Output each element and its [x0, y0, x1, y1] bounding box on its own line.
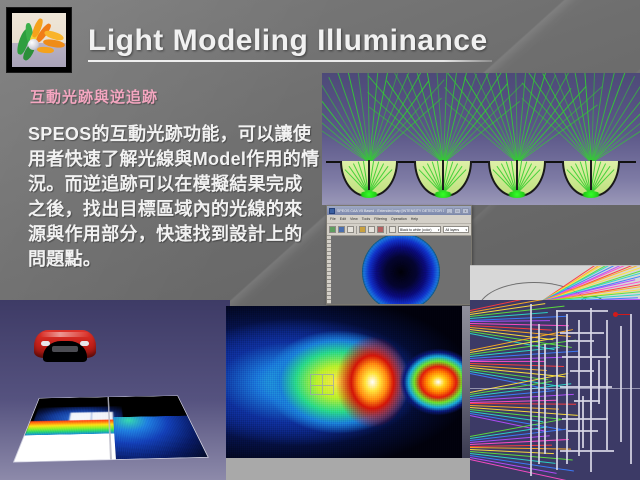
- reflector-cup: [340, 161, 398, 199]
- fit-icon[interactable]: [359, 226, 366, 233]
- color-mode-select[interactable]: Black to white (color) ▾: [398, 226, 441, 233]
- figure-beam-intensity-map: [226, 306, 470, 480]
- page-title: Light Modeling Illuminance: [88, 24, 488, 58]
- open-icon[interactable]: [329, 226, 336, 233]
- window-title-bar[interactable]: SPEOS CAA V5 Based - Extended map [INTEN…: [327, 206, 471, 215]
- grid-icon[interactable]: [377, 226, 384, 233]
- measurement-grid-overlay[interactable]: [310, 374, 334, 395]
- window-title-text: SPEOS CAA V5 Based - Extended map [INTEN…: [337, 209, 444, 213]
- figure-road-illuminance: [0, 300, 230, 480]
- presentation-logo: [6, 7, 72, 73]
- detector-canvas[interactable]: [327, 236, 471, 305]
- speos-application-window[interactable]: SPEOS CAA V5 Based - Extended map [INTEN…: [326, 205, 472, 305]
- toolbar[interactable]: Black to white (color) ▾ All layers ▾: [327, 224, 471, 236]
- layer-select[interactable]: All layers ▾: [443, 226, 469, 233]
- secondary-lobe-strip: [462, 306, 470, 458]
- vehicle-front-model: [34, 330, 96, 362]
- save-icon[interactable]: [338, 226, 345, 233]
- reflector-cup: [562, 161, 620, 199]
- target-point-leader: [618, 314, 630, 315]
- road-illuminance-plane: [13, 396, 209, 463]
- app-icon: [329, 208, 335, 214]
- menu-item-tools[interactable]: Tools: [362, 217, 370, 221]
- maximize-button[interactable]: □: [454, 208, 461, 214]
- toolbar-separator: [356, 226, 357, 234]
- chevron-down-icon[interactable]: ▾: [466, 227, 469, 233]
- logo-artwork: [12, 13, 66, 67]
- window-controls[interactable]: _ □ ×: [446, 208, 469, 214]
- menu-item-edit[interactable]: Edit: [340, 217, 346, 221]
- menu-item-file[interactable]: File: [330, 217, 336, 221]
- zoom-icon[interactable]: [347, 226, 354, 233]
- close-button[interactable]: ×: [462, 208, 469, 214]
- intensity-detector-plot[interactable]: [331, 236, 471, 305]
- ruler-icon[interactable]: [368, 226, 375, 233]
- menu-item-view[interactable]: View: [350, 217, 358, 221]
- toolbar-separator: [386, 226, 387, 234]
- minimize-button[interactable]: _: [446, 208, 453, 214]
- polar-intensity-donut: [362, 236, 440, 305]
- menu-item-help[interactable]: Help: [411, 217, 418, 221]
- chevron-down-icon[interactable]: ▾: [438, 227, 441, 233]
- cad-wireframe-geometry: [470, 300, 640, 480]
- slide-canvas: Light Modeling Illuminance 互動光跡與逆追跡 SPEO…: [0, 0, 640, 480]
- layer-select-value: All layers: [445, 227, 460, 233]
- color-mode-value: Black to white (color): [400, 227, 432, 233]
- section-subtitle: 互動光跡與逆追跡: [30, 86, 158, 107]
- title-underline: [88, 60, 492, 62]
- body-paragraph: SPEOS的互動光跡功能，可以讓使用者快速了解光線與Model作用的情況。而逆追…: [28, 122, 320, 272]
- figure-reverse-ray-trace-cad: [470, 300, 640, 480]
- reflector-cup: [488, 161, 546, 199]
- reflector-cup: [414, 161, 472, 199]
- menu-bar[interactable]: File Edit View Tools Filtering Operation…: [327, 215, 471, 224]
- menu-item-filtering[interactable]: Filtering: [374, 217, 387, 221]
- palette-icon[interactable]: [389, 226, 396, 233]
- menu-item-operation[interactable]: Operation: [391, 217, 407, 221]
- heat-map-noise: [226, 306, 470, 458]
- figure-interactive-ray-trace: [322, 73, 640, 205]
